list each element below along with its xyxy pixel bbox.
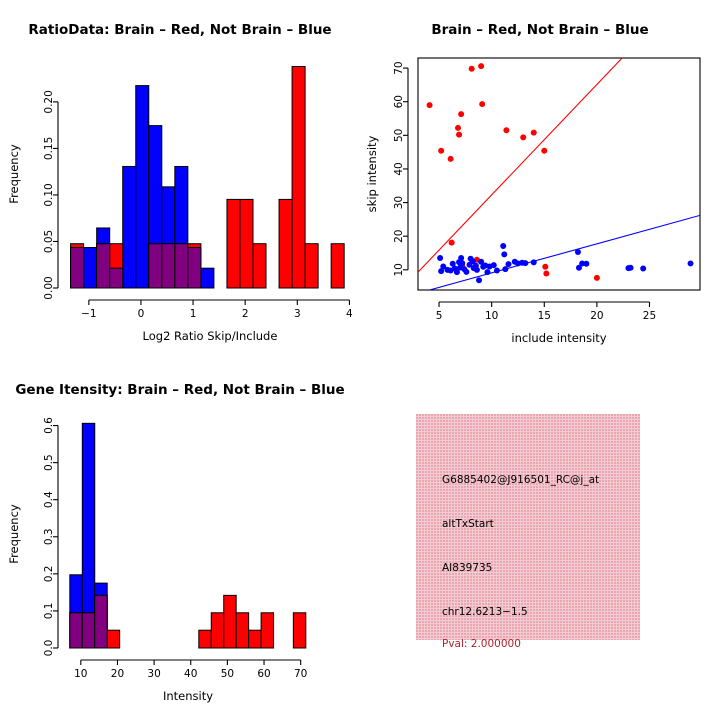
histogram-bar-overlap — [110, 268, 123, 288]
ratio-x-axis-tick-label: 3 — [294, 308, 301, 320]
gene-x-axis-tick-label: 70 — [294, 668, 307, 680]
scatter-point — [520, 134, 526, 140]
gene-x-axis-tick-label: 60 — [257, 668, 270, 680]
histogram-bar — [107, 630, 119, 648]
gene-y-axis-title: Frequency — [7, 504, 21, 564]
histogram-bar — [305, 244, 318, 288]
ratio-y-axis-tick-label: 0.15 — [43, 137, 55, 160]
ratio-y-axis-tick-label: 0.10 — [43, 183, 55, 206]
locus-text: chr12.6213−1.5 — [442, 606, 528, 618]
gene-x-axis-tick-label: 50 — [221, 668, 234, 680]
scatter-point — [455, 125, 461, 131]
scatter-point — [500, 243, 506, 249]
scatter-point — [531, 130, 537, 136]
scatter-y-tick-label: 70 — [393, 61, 405, 74]
scatter-point — [437, 255, 443, 261]
ratio-x-axis-title: Log2 Ratio Skip/Include — [143, 329, 278, 343]
panel-gene-intensity-histogram: Gene Itensity: Brain – Red, Not Brain – … — [0, 360, 360, 720]
histogram-bar — [249, 630, 261, 648]
scatter-point — [458, 111, 464, 117]
panel-ratio-histogram: RatioData: Brain – Red, Not Brain – Blue… — [0, 0, 360, 360]
gene-y-axis-tick-label: 0.2 — [43, 566, 55, 583]
gene-y-axis-tick-label: 0.4 — [43, 491, 55, 508]
scatter-point — [469, 66, 475, 72]
histogram-bar — [136, 86, 149, 288]
ratio-x-axis-tick-label: 4 — [346, 308, 353, 320]
histogram-bar — [201, 268, 214, 288]
scatter-point — [476, 277, 482, 283]
scatter-point — [640, 265, 646, 271]
scatter-point — [583, 261, 589, 267]
histogram-bar-overlap — [70, 613, 82, 648]
scatter-y-tick-label: 50 — [393, 129, 405, 142]
ratio-x-axis-tick-label: 1 — [190, 308, 197, 320]
scatter-x-axis-title: include intensity — [511, 331, 606, 345]
histogram-bar — [292, 67, 305, 288]
histogram-bar-overlap — [149, 244, 162, 288]
histogram-bar-overlap — [97, 244, 110, 288]
histogram-bar — [253, 244, 266, 288]
scatter-x-tick-label: 25 — [643, 310, 656, 322]
scatter-point — [575, 249, 581, 255]
scatter-x-tick-label: 15 — [538, 310, 551, 322]
scatter-x-tick-label: 10 — [485, 310, 498, 322]
ratio-y-axis-title: Frequency — [7, 144, 21, 204]
scatter-point — [491, 262, 497, 268]
histogram-bar-overlap — [162, 244, 175, 288]
gene-x-axis-title: Intensity — [163, 689, 213, 703]
scatter-y-tick-label: 30 — [393, 196, 405, 209]
gene-y-axis-tick-label: 0.0 — [43, 640, 55, 657]
histogram-bar-overlap — [71, 248, 84, 288]
scatter-point — [594, 275, 600, 281]
scatter-point — [478, 63, 484, 69]
gene-y-axis-tick-label: 0.3 — [43, 528, 55, 545]
histogram-bar — [84, 248, 97, 288]
histogram-bar-overlap — [82, 613, 94, 648]
panel-probe-info: G6885402@J916501_RC@j_at altTxStart AI83… — [360, 360, 720, 720]
scatter-point — [494, 267, 500, 273]
probe-info-box: G6885402@J916501_RC@j_at altTxStart AI83… — [416, 414, 640, 640]
histogram-bar — [224, 595, 236, 648]
fit-line-brain-fit — [418, 58, 622, 272]
scatter-point — [463, 269, 469, 275]
histogram-bar — [331, 244, 344, 288]
gene-x-axis-tick-label: 10 — [74, 668, 87, 680]
scatter-point — [503, 127, 509, 133]
ratio-y-axis-tick-label: 0.00 — [43, 276, 55, 299]
histogram-bar — [211, 613, 223, 648]
histogram-bar-overlap — [95, 595, 107, 648]
scatter-point — [448, 156, 454, 162]
scatter-y-axis-title: skip intensity — [365, 135, 379, 212]
pval-text: Pval: 2.000000 — [442, 638, 521, 650]
accession-text: AI839735 — [442, 562, 492, 574]
event-type-text: altTxStart — [442, 518, 494, 530]
scatter-point — [628, 265, 634, 271]
gene-y-axis-tick-label: 0.5 — [43, 454, 55, 471]
probe-id-text: G6885402@J916501_RC@j_at — [442, 474, 599, 486]
scatter-point — [543, 271, 549, 277]
scatter-point — [474, 267, 480, 273]
histogram-bar — [236, 613, 248, 648]
scatter-point — [459, 260, 465, 266]
scatter-point — [688, 260, 694, 266]
scatter-point — [541, 148, 547, 154]
histogram-bar — [227, 199, 240, 288]
ratio-y-axis-tick-label: 0.20 — [43, 90, 55, 113]
scatter-point — [456, 132, 462, 138]
scatter-point — [438, 148, 444, 154]
histogram-bar-overlap — [188, 248, 201, 288]
histogram-bar-overlap — [175, 244, 188, 288]
ratio-y-axis-tick-label: 0.05 — [43, 230, 55, 253]
gene-x-axis-tick-label: 20 — [111, 668, 124, 680]
ratio-x-axis-tick-label: 0 — [138, 308, 145, 320]
scatter-point — [484, 269, 490, 275]
scatter-x-tick-label: 5 — [436, 310, 443, 322]
scatter-point — [479, 101, 485, 107]
histogram-bar — [279, 199, 292, 288]
scatter-point — [458, 255, 464, 261]
ratio-histogram-svg: 0.000.050.100.150.20−101234FrequencyLog2… — [0, 0, 360, 360]
gene-y-axis-tick-label: 0.6 — [43, 417, 55, 434]
scatter-x-tick-label: 20 — [590, 310, 603, 322]
scatter-point — [502, 266, 508, 272]
scatter-point — [522, 260, 528, 266]
scatter-point — [505, 261, 511, 267]
scatter-y-tick-label: 60 — [393, 95, 405, 108]
fit-line-not-brain-fit — [430, 215, 700, 290]
panel-intensity-scatter: Brain – Red, Not Brain – Blue 1020304050… — [360, 0, 720, 360]
scatter-point — [531, 259, 537, 265]
histogram-bar — [123, 166, 136, 288]
ratio-x-axis-tick-label: −1 — [81, 308, 96, 320]
gene-x-axis-tick-label: 30 — [147, 668, 160, 680]
intensity-scatter-svg: 10203040506070510152025skip intensityinc… — [360, 0, 720, 360]
histogram-bar — [240, 199, 253, 288]
scatter-point — [427, 102, 433, 108]
histogram-bar — [199, 630, 211, 648]
scatter-point — [501, 251, 507, 257]
gene-intensity-histogram-svg: 0.00.10.20.30.40.50.610203040506070Frequ… — [0, 360, 360, 720]
scatter-point — [542, 264, 548, 270]
scatter-y-tick-label: 10 — [393, 263, 405, 276]
gene-x-axis-tick-label: 40 — [184, 668, 197, 680]
scatter-y-tick-label: 20 — [393, 230, 405, 243]
histogram-bar — [293, 613, 305, 648]
scatter-y-tick-label: 40 — [393, 162, 405, 175]
histogram-bar — [261, 613, 273, 648]
ratio-x-axis-tick-label: 2 — [242, 308, 249, 320]
gene-y-axis-tick-label: 0.1 — [43, 603, 55, 620]
scatter-point — [449, 240, 455, 246]
